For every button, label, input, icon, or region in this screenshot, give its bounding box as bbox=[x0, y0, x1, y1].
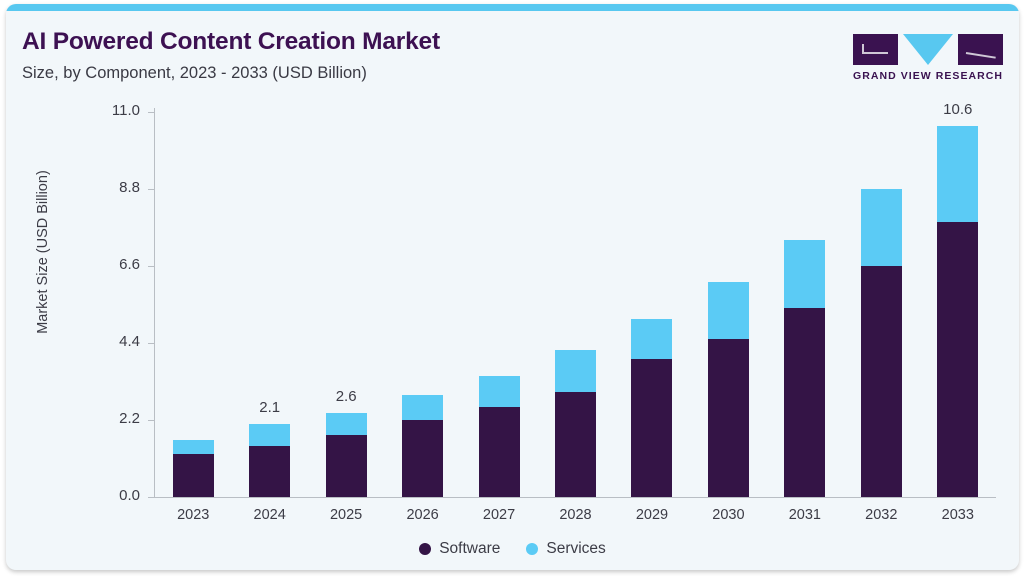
y-tick-label: 6.6 bbox=[80, 256, 140, 273]
x-tick-label: 2031 bbox=[770, 507, 840, 523]
bar-segment-software[interactable] bbox=[326, 435, 367, 497]
bar-segment-software[interactable] bbox=[402, 420, 443, 497]
x-tick-label: 2025 bbox=[311, 507, 381, 523]
bar-stack-2026[interactable] bbox=[402, 395, 443, 497]
y-tick-label: 4.4 bbox=[80, 333, 140, 350]
bar-segment-software[interactable] bbox=[173, 454, 214, 497]
bar-stack-2032[interactable] bbox=[861, 189, 902, 497]
y-tick-mark bbox=[148, 497, 155, 498]
bar-segment-software[interactable] bbox=[708, 339, 749, 497]
bar-segment-services[interactable] bbox=[555, 350, 596, 392]
y-tick-label: 2.2 bbox=[80, 410, 140, 427]
chart-card: AI Powered Content Creation Market Size,… bbox=[6, 4, 1019, 570]
bar-value-label-2025: 2.6 bbox=[311, 388, 381, 405]
bar-segment-software[interactable] bbox=[861, 266, 902, 497]
y-tick-mark bbox=[148, 343, 155, 344]
bar-stack-2025[interactable] bbox=[326, 413, 367, 497]
chart-plot-area: Market Size (USD Billion) 0.02.24.46.68.… bbox=[6, 4, 1019, 570]
legend-label: Software bbox=[439, 540, 500, 558]
bar-segment-software[interactable] bbox=[479, 407, 520, 497]
y-tick-label: 0.0 bbox=[80, 487, 140, 504]
x-tick-label: 2028 bbox=[541, 507, 611, 523]
bar-segment-services[interactable] bbox=[173, 440, 214, 454]
bar-value-label-2033: 10.6 bbox=[923, 101, 993, 118]
bar-segment-services[interactable] bbox=[708, 282, 749, 339]
bar-value-label-2024: 2.1 bbox=[235, 399, 305, 416]
bar-stack-2030[interactable] bbox=[708, 282, 749, 497]
bar-stack-2024[interactable] bbox=[249, 424, 290, 498]
bar-stack-2027[interactable] bbox=[479, 376, 520, 497]
y-tick-label: 11.0 bbox=[80, 102, 140, 119]
legend-swatch-icon bbox=[419, 543, 431, 555]
y-axis-title: Market Size (USD Billion) bbox=[35, 102, 51, 402]
chart-legend: SoftwareServices bbox=[6, 540, 1019, 558]
legend-item-services[interactable]: Services bbox=[526, 540, 605, 558]
legend-item-software[interactable]: Software bbox=[419, 540, 500, 558]
bar-segment-software[interactable] bbox=[555, 392, 596, 497]
bar-segment-services[interactable] bbox=[249, 424, 290, 446]
y-tick-mark bbox=[148, 266, 155, 267]
y-tick-mark bbox=[148, 112, 155, 113]
y-tick-mark bbox=[148, 420, 155, 421]
bar-segment-services[interactable] bbox=[937, 126, 978, 222]
bar-segment-services[interactable] bbox=[784, 240, 825, 308]
x-tick-label: 2033 bbox=[923, 507, 993, 523]
bar-segment-services[interactable] bbox=[631, 319, 672, 359]
x-tick-label: 2026 bbox=[388, 507, 458, 523]
x-tick-label: 2023 bbox=[158, 507, 228, 523]
legend-label: Services bbox=[546, 540, 605, 558]
y-tick-label: 8.8 bbox=[80, 179, 140, 196]
bar-stack-2029[interactable] bbox=[631, 319, 672, 497]
bar-segment-services[interactable] bbox=[861, 189, 902, 266]
bar-segment-software[interactable] bbox=[249, 446, 290, 497]
y-axis-line bbox=[154, 108, 155, 498]
x-tick-label: 2030 bbox=[693, 507, 763, 523]
x-tick-label: 2024 bbox=[235, 507, 305, 523]
bar-stack-2028[interactable] bbox=[555, 350, 596, 497]
bar-segment-software[interactable] bbox=[631, 359, 672, 497]
x-axis-line bbox=[154, 497, 996, 498]
bar-segment-software[interactable] bbox=[937, 222, 978, 497]
bar-stack-2033[interactable] bbox=[937, 126, 978, 497]
bar-segment-services[interactable] bbox=[326, 413, 367, 435]
bar-segment-software[interactable] bbox=[784, 308, 825, 497]
bar-segment-services[interactable] bbox=[402, 395, 443, 420]
legend-swatch-icon bbox=[526, 543, 538, 555]
bar-stack-2031[interactable] bbox=[784, 240, 825, 497]
bar-segment-services[interactable] bbox=[479, 376, 520, 407]
x-tick-label: 2032 bbox=[846, 507, 916, 523]
y-tick-mark bbox=[148, 189, 155, 190]
x-tick-label: 2027 bbox=[464, 507, 534, 523]
bar-stack-2023[interactable] bbox=[173, 440, 214, 497]
x-tick-label: 2029 bbox=[617, 507, 687, 523]
